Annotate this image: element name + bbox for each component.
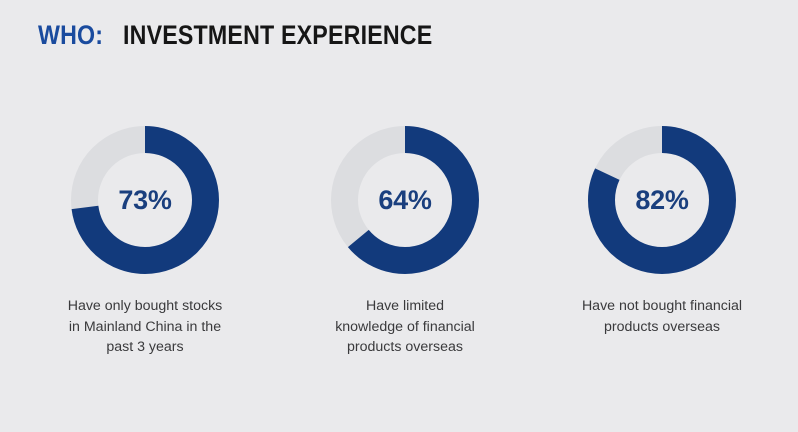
donut-chart-2: 64% Have limited knowledge of financial … [275, 126, 535, 358]
donut-value-label-2: 64% [331, 126, 479, 274]
title-highlight: WHO: [38, 22, 103, 49]
caption-line: knowledge of financial [335, 317, 475, 338]
donut-chart-3: 82% Have not bought financial products o… [532, 126, 792, 337]
donut-caption-2: Have limited knowledge of financial prod… [335, 296, 475, 358]
donut-caption-3: Have not bought financial products overs… [582, 296, 742, 337]
donut-value-label-3: 82% [588, 126, 736, 274]
donut-caption-1: Have only bought stocks in Mainland Chin… [68, 296, 223, 358]
page-title: WHO: INVESTMENT EXPERIENCE [38, 22, 483, 49]
caption-line: Have limited [335, 296, 475, 317]
caption-line: Have not bought financial [582, 296, 742, 317]
donut-ring-1: 73% [71, 126, 219, 274]
slide-canvas: WHO: INVESTMENT EXPERIENCE 73% Have only… [0, 0, 798, 432]
caption-line: products overseas [335, 337, 475, 358]
donut-ring-2: 64% [331, 126, 479, 274]
donut-ring-3: 82% [588, 126, 736, 274]
caption-line: past 3 years [68, 337, 223, 358]
title-main: INVESTMENT EXPERIENCE [123, 22, 432, 49]
donut-value-label-1: 73% [71, 126, 219, 274]
donut-chart-1: 73% Have only bought stocks in Mainland … [15, 126, 275, 358]
caption-line: products overseas [582, 317, 742, 338]
caption-line: in Mainland China in the [68, 317, 223, 338]
caption-line: Have only bought stocks [68, 296, 223, 317]
